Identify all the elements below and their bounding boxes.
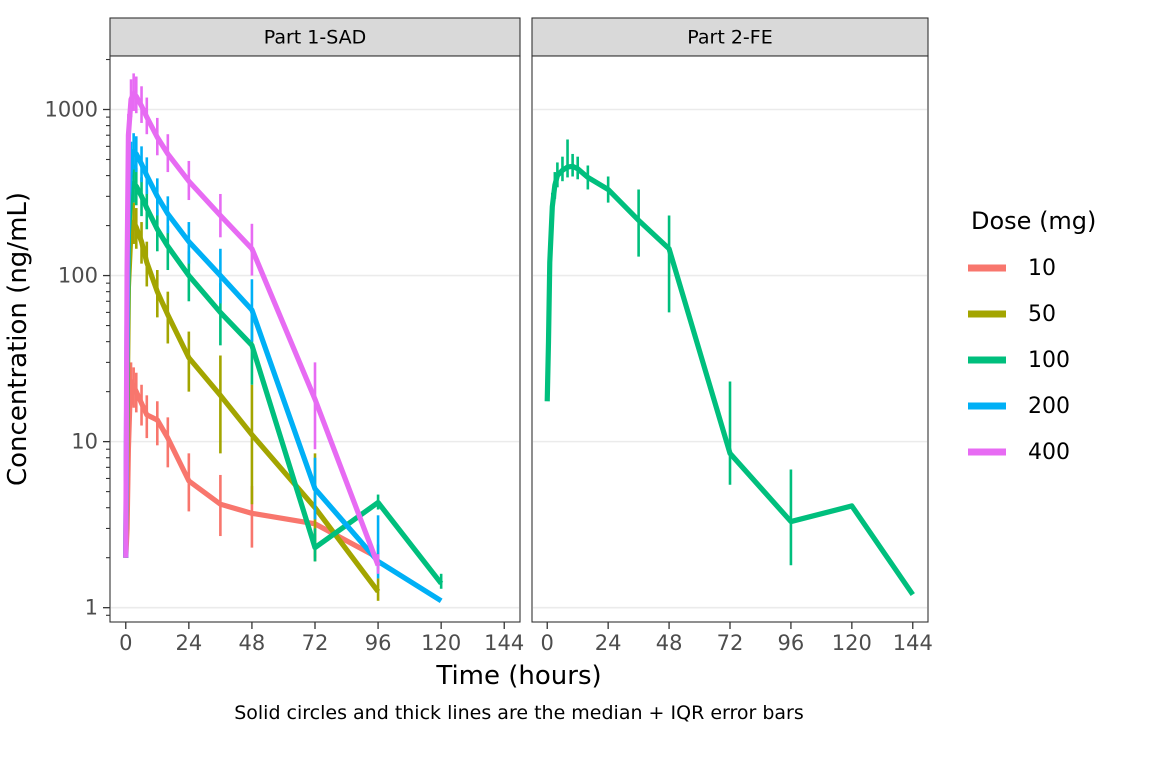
x-axis-title: Time (hours) xyxy=(435,661,601,691)
panel-background xyxy=(532,56,928,622)
legend-item-100[interactable]: 100 xyxy=(968,348,1070,373)
y-tick-label: 1 xyxy=(85,596,98,620)
legend-item-10[interactable]: 10 xyxy=(968,256,1056,281)
legend: Dose (mg)1050100200400 xyxy=(968,207,1096,465)
figure-caption: Solid circles and thick lines are the me… xyxy=(234,702,804,724)
y-axis-title: Concentration (ng/mL) xyxy=(3,192,33,486)
x-tick-label: 72 xyxy=(717,631,744,655)
x-tick-label: 0 xyxy=(541,631,554,655)
x-tick-label: 144 xyxy=(893,631,933,655)
chart-figure: Part 1-SADPart 2-FE110100100002448729612… xyxy=(0,0,1152,768)
y-tick-label: 10 xyxy=(71,430,98,454)
legend-item-200[interactable]: 200 xyxy=(968,394,1070,419)
legend-item-label: 10 xyxy=(1028,256,1056,281)
legend-item-50[interactable]: 50 xyxy=(968,302,1056,327)
pk-concentration-time-plot: Part 1-SADPart 2-FE110100100002448729612… xyxy=(0,0,1152,768)
legend-item-label: 200 xyxy=(1028,394,1070,419)
x-tick-label: 48 xyxy=(239,631,266,655)
x-tick-label: 96 xyxy=(778,631,805,655)
plot-panels: 1101001000024487296120144024487296120144… xyxy=(3,56,1096,724)
facet-strip-label: Part 2-FE xyxy=(687,27,772,49)
facet-strips: Part 1-SADPart 2-FE110100100002448729612… xyxy=(3,18,1096,724)
facet-strip-label: Part 1-SAD xyxy=(264,27,367,49)
legend-item-label: 100 xyxy=(1028,348,1070,373)
x-tick-label: 96 xyxy=(365,631,392,655)
x-tick-label: 72 xyxy=(302,631,329,655)
x-tick-label: 24 xyxy=(595,631,622,655)
x-tick-label: 120 xyxy=(421,631,461,655)
legend-title: Dose (mg) xyxy=(971,207,1096,235)
x-tick-label: 48 xyxy=(656,631,683,655)
x-tick-label: 144 xyxy=(484,631,524,655)
x-tick-label: 24 xyxy=(175,631,202,655)
x-tick-label: 0 xyxy=(119,631,132,655)
x-tick-label: 120 xyxy=(832,631,872,655)
legend-item-400[interactable]: 400 xyxy=(968,440,1070,465)
legend-item-label: 400 xyxy=(1028,440,1070,465)
legend-item-label: 50 xyxy=(1028,302,1056,327)
y-tick-label: 1000 xyxy=(45,98,98,122)
y-tick-label: 100 xyxy=(58,264,98,288)
